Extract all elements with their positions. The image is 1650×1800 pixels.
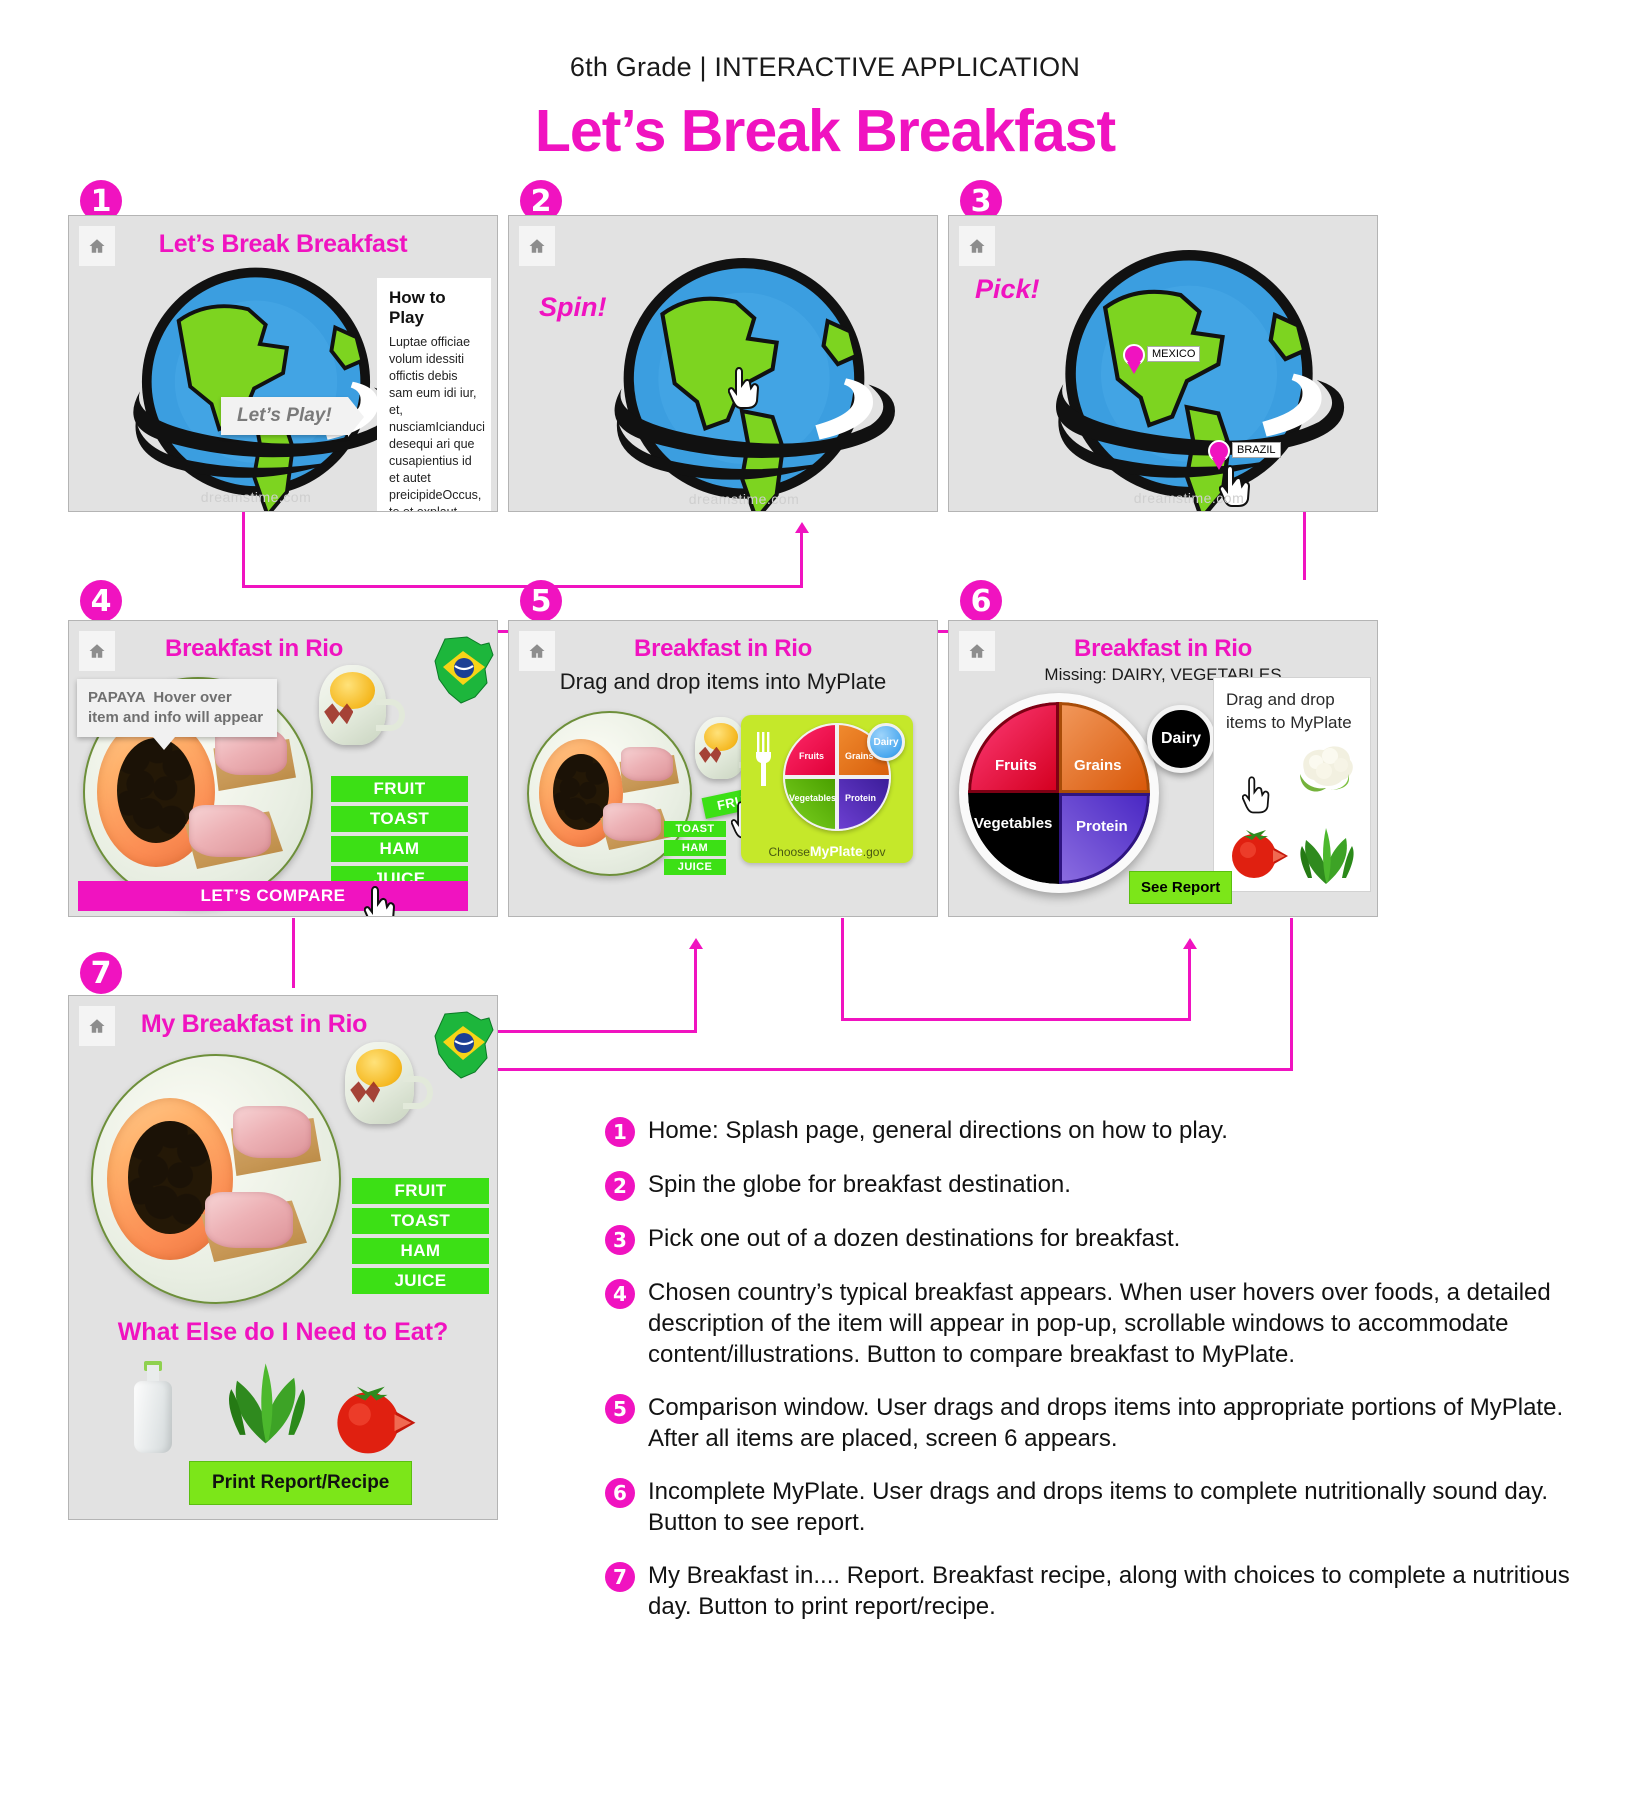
print-report-button[interactable]: Print Report/Recipe	[189, 1461, 412, 1505]
home-button-3[interactable]	[959, 226, 995, 266]
connector-4-5-vert-c	[694, 948, 697, 1033]
fork-glyph	[754, 730, 774, 788]
globe-graphic-2[interactable]: dreamstime.com	[589, 258, 899, 512]
home-button-5[interactable]	[519, 631, 555, 671]
legend-item-6: 6 Incomplete MyPlate. User drags and dro…	[605, 1476, 1605, 1538]
how-to-play-popup[interactable]: How to Play Luptae officiae volum idessi…	[377, 278, 491, 512]
connector-4-5-arrowhead	[689, 938, 703, 949]
plate-label-fruits: Fruits	[995, 757, 1037, 774]
home-icon	[528, 642, 546, 660]
tomato-item[interactable]	[1228, 826, 1290, 882]
home-button-1[interactable]	[79, 226, 115, 266]
spinach-item[interactable]	[1292, 824, 1362, 886]
juice-mug-7[interactable]	[345, 1042, 433, 1124]
myplate-label-protein: Protein	[845, 793, 876, 803]
panel-screen-3: Pick! MEXICO BRAZIL	[948, 215, 1378, 512]
watermark-2: dreamstime.com	[689, 491, 799, 507]
chip-toast[interactable]: TOAST	[352, 1208, 489, 1234]
legend-text-7: My Breakfast in.... Report. Breakfast re…	[648, 1560, 1605, 1622]
plate-q-grains[interactable]: Grains	[1059, 702, 1150, 793]
connector-1-2-arrowhead	[795, 522, 809, 533]
cauliflower-item[interactable]	[1296, 740, 1360, 796]
chip-fruit[interactable]: FRUIT	[352, 1178, 489, 1204]
plate-q-vegetables[interactable]: Vegetables	[968, 793, 1059, 884]
watermark-3: dreamstime.com	[1134, 490, 1244, 506]
brazil-flag-map-7	[427, 1010, 498, 1082]
globe-icon	[111, 266, 401, 511]
panel-screen-4: Breakfast in Rio PAPAYA Hover over item …	[68, 620, 498, 917]
tomato-icon	[1228, 826, 1290, 882]
myplate-q-protein[interactable]: Protein	[837, 777, 891, 831]
ham-food-1[interactable]	[233, 1106, 311, 1158]
plate-label-vegetables: Vegetables	[974, 815, 1052, 832]
legend-num-4: 4	[605, 1279, 635, 1309]
legend-num-1: 1	[605, 1117, 635, 1147]
hand-cursor-icon	[364, 884, 398, 917]
chip-ham[interactable]: HAM	[352, 1238, 489, 1264]
milk-item[interactable]	[127, 1361, 179, 1453]
home-icon	[528, 237, 546, 255]
hand-cursor-icon	[728, 365, 762, 409]
item-info-tooltip: PAPAYA Hover over item and info will app…	[77, 679, 277, 737]
drag-drop-panel-6[interactable]: Drag and drop items to MyPlate	[1213, 677, 1371, 892]
legend-num-6: 6	[605, 1478, 635, 1508]
mug-juice	[330, 672, 375, 709]
plate-label-grains: Grains	[1074, 757, 1122, 774]
globe-icon	[1029, 250, 1349, 512]
panel-5-instruction: Drag and drop items into MyPlate	[509, 669, 937, 695]
connector-1-2-horz	[242, 585, 802, 588]
connector-5-6-vert-b	[1188, 948, 1191, 1020]
myplate-label-fruits: Fruits	[799, 751, 824, 761]
page-header: 6th Grade | INTERACTIVE APPLICATION Let’…	[0, 0, 1650, 165]
dairy-label: Dairy	[1161, 730, 1201, 748]
legend-list: 1 Home: Splash page, general directions …	[605, 1115, 1605, 1644]
juice-mug-4[interactable]	[319, 665, 405, 745]
myplate-q-fruits[interactable]: Fruits	[783, 723, 837, 777]
chip-ham[interactable]: HAM	[664, 840, 726, 856]
step-badge-5: 5	[520, 580, 562, 622]
legend-text-1: Home: Splash page, general directions on…	[648, 1115, 1228, 1147]
myplate-label-vegetables: Vegetables	[789, 793, 836, 803]
legend-num-5: 5	[605, 1394, 635, 1424]
pin-label-brazil: BRAZIL	[1232, 442, 1281, 458]
home-icon	[968, 642, 986, 660]
legend-num-7: 7	[605, 1562, 635, 1592]
plate-label-protein: Protein	[1076, 818, 1128, 835]
home-button-7[interactable]	[79, 1006, 115, 1046]
footer-myplate: MyPlate	[810, 843, 863, 859]
pin-label-mexico: MEXICO	[1147, 346, 1200, 362]
panel-5-title: Breakfast in Rio	[509, 621, 937, 663]
watermark-1: dreamstime.com	[201, 489, 311, 505]
panel-screen-1: Let’s Break Breakfast Let’s Play! dreams…	[68, 215, 498, 512]
myplate-label-dairy: Dairy	[873, 737, 898, 748]
legend-item-7: 7 My Breakfast in.... Report. Breakfast …	[605, 1560, 1605, 1622]
chip-ham[interactable]: HAM	[331, 836, 468, 862]
step-badge-6: 6	[960, 580, 1002, 622]
legend-text-6: Incomplete MyPlate. User drags and drops…	[648, 1476, 1605, 1538]
footer-choose: Choose	[769, 845, 810, 859]
mug-juice	[356, 1049, 402, 1087]
connector-3-4-vert-a	[1303, 512, 1306, 580]
how-to-play-body: Luptae officiae volum idessiti offictis …	[389, 334, 479, 512]
cauliflower-icon	[1296, 740, 1360, 796]
incomplete-myplate[interactable]: Fruits Grains Vegetables Protein	[959, 693, 1159, 893]
connector-1-2-vert-b	[800, 531, 803, 588]
pin-tip	[1127, 362, 1141, 374]
home-icon	[968, 237, 986, 255]
mug-handle	[403, 1076, 433, 1109]
connector-5-6-horz	[841, 1018, 1191, 1021]
how-to-play-heading: How to Play	[389, 288, 479, 328]
panel-1-title: Let’s Break Breakfast	[69, 216, 497, 259]
drag-drop-instruction: Drag and drop items to MyPlate	[1214, 678, 1370, 734]
legend-num-3: 3	[605, 1225, 635, 1255]
step-badge-7: 7	[80, 952, 122, 994]
chip-juice[interactable]: JUICE	[352, 1268, 489, 1294]
home-icon	[88, 642, 106, 660]
breakfast-plate-7	[91, 1054, 341, 1304]
legend-text-2: Spin the globe for breakfast destination…	[648, 1169, 1071, 1201]
tooltip-item-name: PAPAYA	[88, 689, 145, 706]
hand-cursor-6[interactable]	[1242, 774, 1272, 814]
legend-text-4: Chosen country’s typical breakfast appea…	[648, 1277, 1605, 1370]
step-badge-4: 4	[80, 580, 122, 622]
lets-compare-button[interactable]: LET’S COMPARE	[78, 881, 468, 911]
legend-item-2: 2 Spin the globe for breakfast destinati…	[605, 1169, 1605, 1201]
brazil-map-icon	[427, 1010, 498, 1082]
tomato-icon	[327, 1381, 423, 1459]
hand-cursor-2[interactable]	[728, 365, 762, 409]
see-report-button[interactable]: See Report	[1129, 871, 1232, 904]
globe-graphic-1[interactable]: Let’s Play! dreamstime.com	[111, 266, 401, 511]
map-pin-mexico[interactable]: MEXICO	[1123, 344, 1145, 376]
connector-5-6-vert-a	[841, 918, 844, 1020]
legend-text-5: Comparison window. User drags and drops …	[648, 1392, 1605, 1454]
mug-handle	[376, 699, 405, 731]
papaya-seeds	[128, 1121, 211, 1234]
ham-food-2[interactable]	[189, 805, 271, 857]
lets-play-button[interactable]: Let’s Play!	[221, 397, 348, 435]
myplate-q-vegetables[interactable]: Vegetables	[783, 777, 837, 831]
tomato-item[interactable]	[327, 1381, 423, 1459]
dairy-circle-empty[interactable]: Dairy	[1147, 705, 1215, 773]
chip-stack-4: FRUIT TOAST HAM JUICE	[331, 776, 468, 892]
connector-5-6-arrowhead	[1183, 938, 1197, 949]
milk-jug	[134, 1381, 171, 1453]
spinach-icon	[217, 1354, 317, 1450]
panel-screen-2: Spin! dreamstime.com	[508, 215, 938, 512]
papaya-seeds	[553, 754, 608, 830]
connector-1-2-vert-a	[242, 512, 245, 588]
legend-num-2: 2	[605, 1171, 635, 1201]
chip-toast[interactable]: TOAST	[664, 821, 726, 837]
brazil-map-icon	[427, 635, 498, 707]
home-button-4[interactable]	[79, 631, 115, 671]
spinach-item[interactable]	[217, 1354, 317, 1450]
legend-item-4: 4 Chosen country’s typical breakfast app…	[605, 1277, 1605, 1370]
brazil-flag-map-4	[427, 635, 498, 707]
chip-toast[interactable]: TOAST	[331, 806, 468, 832]
ham-food-2[interactable]	[205, 1192, 293, 1248]
what-else-heading: What Else do I Need to Eat?	[69, 1318, 497, 1347]
chip-stack-5: TOAST HAM JUICE	[664, 821, 726, 875]
spinach-icon	[1292, 824, 1362, 886]
myplate-footer: ChooseMyPlate.gov	[741, 843, 913, 859]
ham-food-2[interactable]	[603, 803, 661, 841]
chip-juice[interactable]: JUICE	[664, 859, 726, 875]
legend-item-1: 1 Home: Splash page, general directions …	[605, 1115, 1605, 1147]
myplate-dairy-circle[interactable]: Dairy	[867, 723, 905, 761]
plate-q-fruits[interactable]: Fruits	[968, 702, 1059, 793]
mug-juice	[704, 723, 738, 752]
footer-gov: .gov	[863, 845, 886, 859]
legend-item-5: 5 Comparison window. User drags and drop…	[605, 1392, 1605, 1454]
home-button-2[interactable]	[519, 226, 555, 266]
panel-screen-7: My Breakfast in Rio FRUIT TOAST HAM JUIC…	[68, 995, 498, 1520]
connector-4-5-vert-a	[292, 918, 295, 988]
papaya-seeds	[117, 738, 195, 843]
globe-graphic-3[interactable]: MEXICO BRAZIL dreamstime.com	[1029, 250, 1349, 512]
page-title: Let’s Break Breakfast	[0, 97, 1650, 165]
ham-food-1[interactable]	[621, 747, 673, 781]
panel-screen-6: Breakfast in Rio Missing: DAIRY, VEGETAB…	[948, 620, 1378, 917]
legend-item-3: 3 Pick one out of a dozen destinations f…	[605, 1223, 1605, 1255]
hand-cursor-icon	[1242, 774, 1272, 814]
legend-text-3: Pick one out of a dozen destinations for…	[648, 1223, 1180, 1255]
chip-stack-7: FRUIT TOAST HAM JUICE	[352, 1178, 489, 1294]
panel-6-title: Breakfast in Rio	[949, 621, 1377, 663]
myplate-graphic-5[interactable]: Fruits Grains Vegetables Protein Dairy C…	[741, 715, 913, 863]
home-icon	[88, 1017, 106, 1035]
hand-cursor-4[interactable]	[364, 884, 398, 917]
panel-screen-5: Breakfast in Rio Drag and drop items int…	[508, 620, 938, 917]
connector-6-7-vert-a	[1290, 918, 1293, 1070]
fork-icon	[754, 730, 774, 793]
chip-fruit[interactable]: FRUIT	[331, 776, 468, 802]
home-icon	[88, 237, 106, 255]
page-subtitle: 6th Grade | INTERACTIVE APPLICATION	[0, 52, 1650, 83]
